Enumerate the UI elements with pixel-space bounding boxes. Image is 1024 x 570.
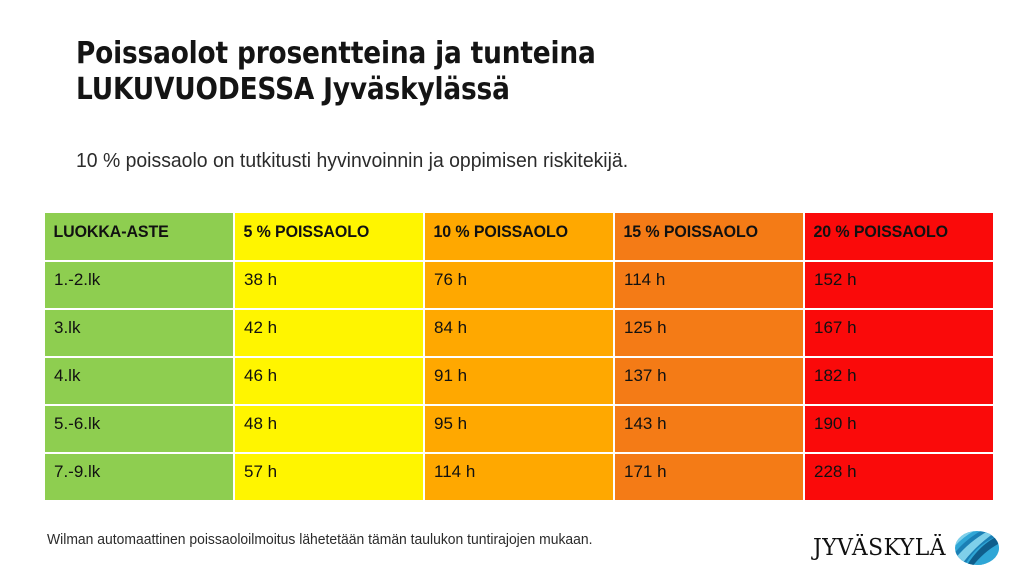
table-cell-10-percent: 76 h	[425, 262, 613, 308]
footnote: Wilman automaattinen poissaoloilmoitus l…	[47, 532, 593, 548]
table-header-row: LUOKKA-ASTE 5 % POISSAOLO 10 % POISSAOLO…	[45, 213, 993, 260]
table-row: 5.-6.lk 48 h 95 h 143 h 190 h	[45, 406, 993, 452]
cell-label: 3.lk	[45, 310, 233, 338]
cell-label: 38 h	[235, 262, 423, 290]
table-cell-15-percent: 143 h	[615, 406, 803, 452]
title-line-1: Poissaolot prosentteina ja tunteina	[76, 36, 868, 72]
table-cell-15-percent: 171 h	[615, 454, 803, 500]
infographic-page: Poissaolot prosentteina ja tunteina LUKU…	[0, 0, 1024, 570]
subtitle: 10 % poissaolo on tutkitusti hyvinvoinni…	[76, 148, 628, 174]
cell-label: 114 h	[615, 262, 803, 290]
table-header-5-percent: 5 % POISSAOLO	[235, 213, 423, 260]
cell-label: 7.-9.lk	[45, 454, 233, 482]
table-cell-20-percent: 182 h	[805, 358, 993, 404]
table-row: 3.lk 42 h 84 h 125 h 167 h	[45, 310, 993, 356]
table-header-label: 15 % POISSAOLO	[615, 213, 792, 242]
cell-label: 48 h	[235, 406, 423, 434]
table-header-label: 5 % POISSAOLO	[235, 213, 412, 242]
jyvaskyla-logo: JYVÄSKYLÄ	[806, 526, 1000, 570]
table-header-20-percent: 20 % POISSAOLO	[805, 213, 993, 260]
table-cell-grade: 4.lk	[45, 358, 233, 404]
table-row: 1.-2.lk 38 h 76 h 114 h 152 h	[45, 262, 993, 308]
cell-label: 137 h	[615, 358, 803, 386]
table-cell-15-percent: 125 h	[615, 310, 803, 356]
table-header-label: 10 % POISSAOLO	[425, 213, 602, 242]
absence-table-grid: LUOKKA-ASTE 5 % POISSAOLO 10 % POISSAOLO…	[43, 211, 995, 502]
table-cell-20-percent: 167 h	[805, 310, 993, 356]
cell-label: 228 h	[805, 454, 993, 482]
table-cell-10-percent: 91 h	[425, 358, 613, 404]
cell-label: 114 h	[425, 454, 613, 482]
logo-wordmark: JYVÄSKYLÄ	[813, 535, 946, 561]
table-cell-10-percent: 114 h	[425, 454, 613, 500]
table-header-label: 20 % POISSAOLO	[805, 213, 982, 242]
table-cell-15-percent: 114 h	[615, 262, 803, 308]
table-header-luokka-aste: LUOKKA-ASTE	[45, 213, 233, 260]
table-cell-grade: 5.-6.lk	[45, 406, 233, 452]
table-cell-20-percent: 152 h	[805, 262, 993, 308]
cell-label: 91 h	[425, 358, 613, 386]
cell-label: 76 h	[425, 262, 613, 290]
cell-label: 95 h	[425, 406, 613, 434]
jyvaskyla-lake-icon	[954, 529, 1000, 567]
table-cell-20-percent: 190 h	[805, 406, 993, 452]
table-cell-15-percent: 137 h	[615, 358, 803, 404]
cell-label: 5.-6.lk	[45, 406, 233, 434]
table-cell-5-percent: 42 h	[235, 310, 423, 356]
table-cell-20-percent: 228 h	[805, 454, 993, 500]
table-cell-5-percent: 46 h	[235, 358, 423, 404]
table-cell-grade: 7.-9.lk	[45, 454, 233, 500]
cell-label: 152 h	[805, 262, 993, 290]
cell-label: 167 h	[805, 310, 993, 338]
title-line-2: LUKUVUODESSA Jyväskylässä	[76, 72, 868, 108]
table-cell-10-percent: 95 h	[425, 406, 613, 452]
cell-label: 125 h	[615, 310, 803, 338]
cell-label: 1.-2.lk	[45, 262, 233, 290]
cell-label: 57 h	[235, 454, 423, 482]
table-cell-5-percent: 57 h	[235, 454, 423, 500]
cell-label: 190 h	[805, 406, 993, 434]
absence-table: LUOKKA-ASTE 5 % POISSAOLO 10 % POISSAOLO…	[43, 211, 995, 502]
table-header-10-percent: 10 % POISSAOLO	[425, 213, 613, 260]
table-header-label: LUOKKA-ASTE	[45, 213, 222, 242]
page-title: Poissaolot prosentteina ja tunteina LUKU…	[76, 36, 976, 108]
table-cell-grade: 1.-2.lk	[45, 262, 233, 308]
table-cell-5-percent: 38 h	[235, 262, 423, 308]
table-row: 4.lk 46 h 91 h 137 h 182 h	[45, 358, 993, 404]
table-cell-5-percent: 48 h	[235, 406, 423, 452]
table-cell-grade: 3.lk	[45, 310, 233, 356]
table-head: LUOKKA-ASTE 5 % POISSAOLO 10 % POISSAOLO…	[45, 213, 993, 260]
cell-label: 42 h	[235, 310, 423, 338]
table-row: 7.-9.lk 57 h 114 h 171 h 228 h	[45, 454, 993, 500]
cell-label: 46 h	[235, 358, 423, 386]
cell-label: 84 h	[425, 310, 613, 338]
table-body: 1.-2.lk 38 h 76 h 114 h 152 h 3.lk 42 h …	[45, 262, 993, 500]
cell-label: 182 h	[805, 358, 993, 386]
cell-label: 171 h	[615, 454, 803, 482]
table-header-15-percent: 15 % POISSAOLO	[615, 213, 803, 260]
cell-label: 143 h	[615, 406, 803, 434]
table-cell-10-percent: 84 h	[425, 310, 613, 356]
cell-label: 4.lk	[45, 358, 233, 386]
